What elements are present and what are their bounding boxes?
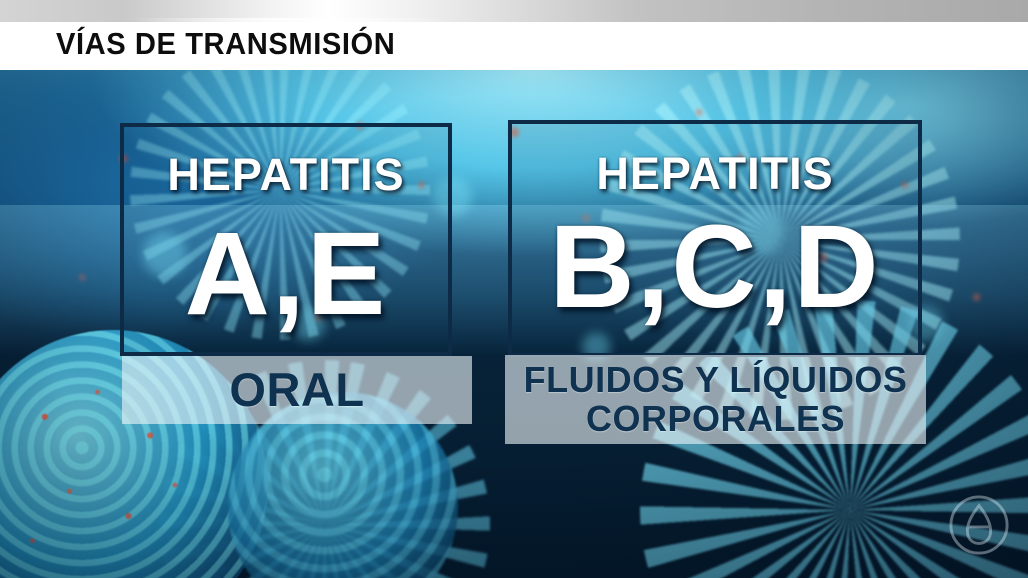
panel-letters-bcd: B,C,D	[512, 208, 918, 326]
header-gradient-strip	[0, 0, 1028, 22]
page-title: VÍAS DE TRANSMISIÓN	[56, 26, 395, 62]
broadcaster-logo-icon	[948, 494, 1010, 556]
panel-border-box: HEPATITIS B,C,D	[508, 120, 922, 357]
header-bar: VÍAS DE TRANSMISIÓN	[0, 0, 1028, 70]
infographic-stage: VÍAS DE TRANSMISIÓN HEPATITIS A,E ORAL H…	[0, 0, 1028, 578]
panel-title-hepatitis: HEPATITIS	[124, 149, 448, 201]
panel-letters-ae: A,E	[124, 215, 448, 333]
panel-title-hepatitis: HEPATITIS	[512, 148, 918, 200]
panel-border-box: HEPATITIS A,E	[120, 123, 452, 356]
panel-caption-band: FLUIDOS Y LÍQUIDOS CORPORALES	[505, 355, 926, 444]
panel-caption-band: ORAL	[122, 356, 472, 424]
panel-caption-oral: ORAL	[229, 365, 364, 415]
panel-caption-fluids: FLUIDOS Y LÍQUIDOS CORPORALES	[524, 361, 908, 437]
